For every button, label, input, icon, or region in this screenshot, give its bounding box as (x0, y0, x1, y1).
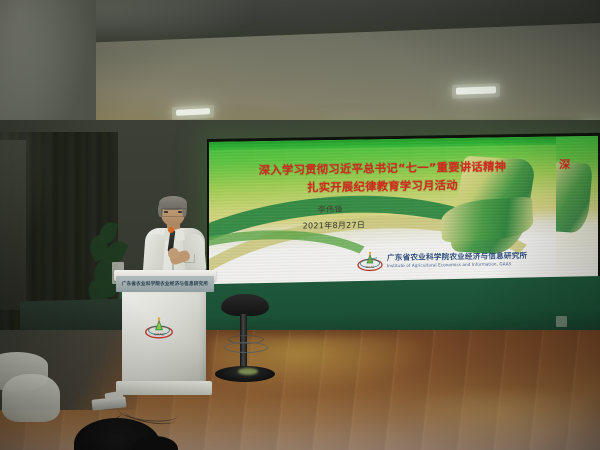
presentation-photo: 深入学习贯彻习近平总书记“七一”重要讲话精神 扎实开展纪律教育学习月活动 李伟锋… (0, 0, 600, 450)
floor-light-reflection-2 (400, 392, 600, 450)
stool-seat (221, 294, 269, 316)
podium: 广东省农业科学院农业经济与信息研究所 GAAS (116, 270, 214, 402)
ceiling-light-4 (456, 86, 496, 94)
slide-edge-title-fragment: 深 (559, 156, 570, 172)
podium-emblem-icon: GAAS (144, 316, 174, 340)
presenter-eye-right (178, 211, 182, 213)
presenter-hand (168, 248, 179, 259)
bar-stool[interactable] (214, 294, 276, 390)
microphone-head-icon (168, 227, 174, 233)
slide-footer: GAAS 广东省农业科学院农业经济与信息研究所 Institute of Agr… (357, 249, 527, 272)
slide-top-band (209, 137, 556, 150)
podium-band-text: 广东省农业科学院农业经济与信息研究所 (122, 281, 208, 287)
left-wall-strip (0, 140, 26, 310)
presenter-eye-left (164, 211, 168, 213)
svg-text:GAAS: GAAS (154, 333, 164, 337)
stool-footrest (224, 342, 268, 353)
gaas-logo-icon: GAAS (357, 251, 383, 271)
presentation-slide: 深入学习贯彻习近平总书记“七一”重要讲话精神 扎实开展纪律教育学习月活动 李伟锋… (209, 137, 556, 287)
round-sofa-front (2, 374, 60, 422)
podium-base (116, 381, 212, 395)
podium-name-band: 广东省农业科学院农业经济与信息研究所 (116, 276, 214, 292)
led-screen[interactable]: 深入学习贯彻习近平总书记“七一”重要讲话精神 扎实开展纪律教育学习月活动 李伟锋… (207, 133, 600, 290)
wall-outlet[interactable] (556, 316, 567, 327)
slide-wrapped-edge: 深 (556, 136, 598, 282)
slide-org-block: 广东省农业科学院农业经济与信息研究所 Institute of Agricult… (387, 252, 527, 267)
screen-surface: 深入学习贯彻习近平总书记“七一”重要讲话精神 扎实开展纪律教育学习月活动 李伟锋… (209, 136, 598, 287)
stool-base-reflection (238, 368, 258, 375)
svg-text:GAAS: GAAS (366, 265, 375, 269)
slide-org-en: Institute of Agricultural Economics and … (387, 261, 527, 267)
